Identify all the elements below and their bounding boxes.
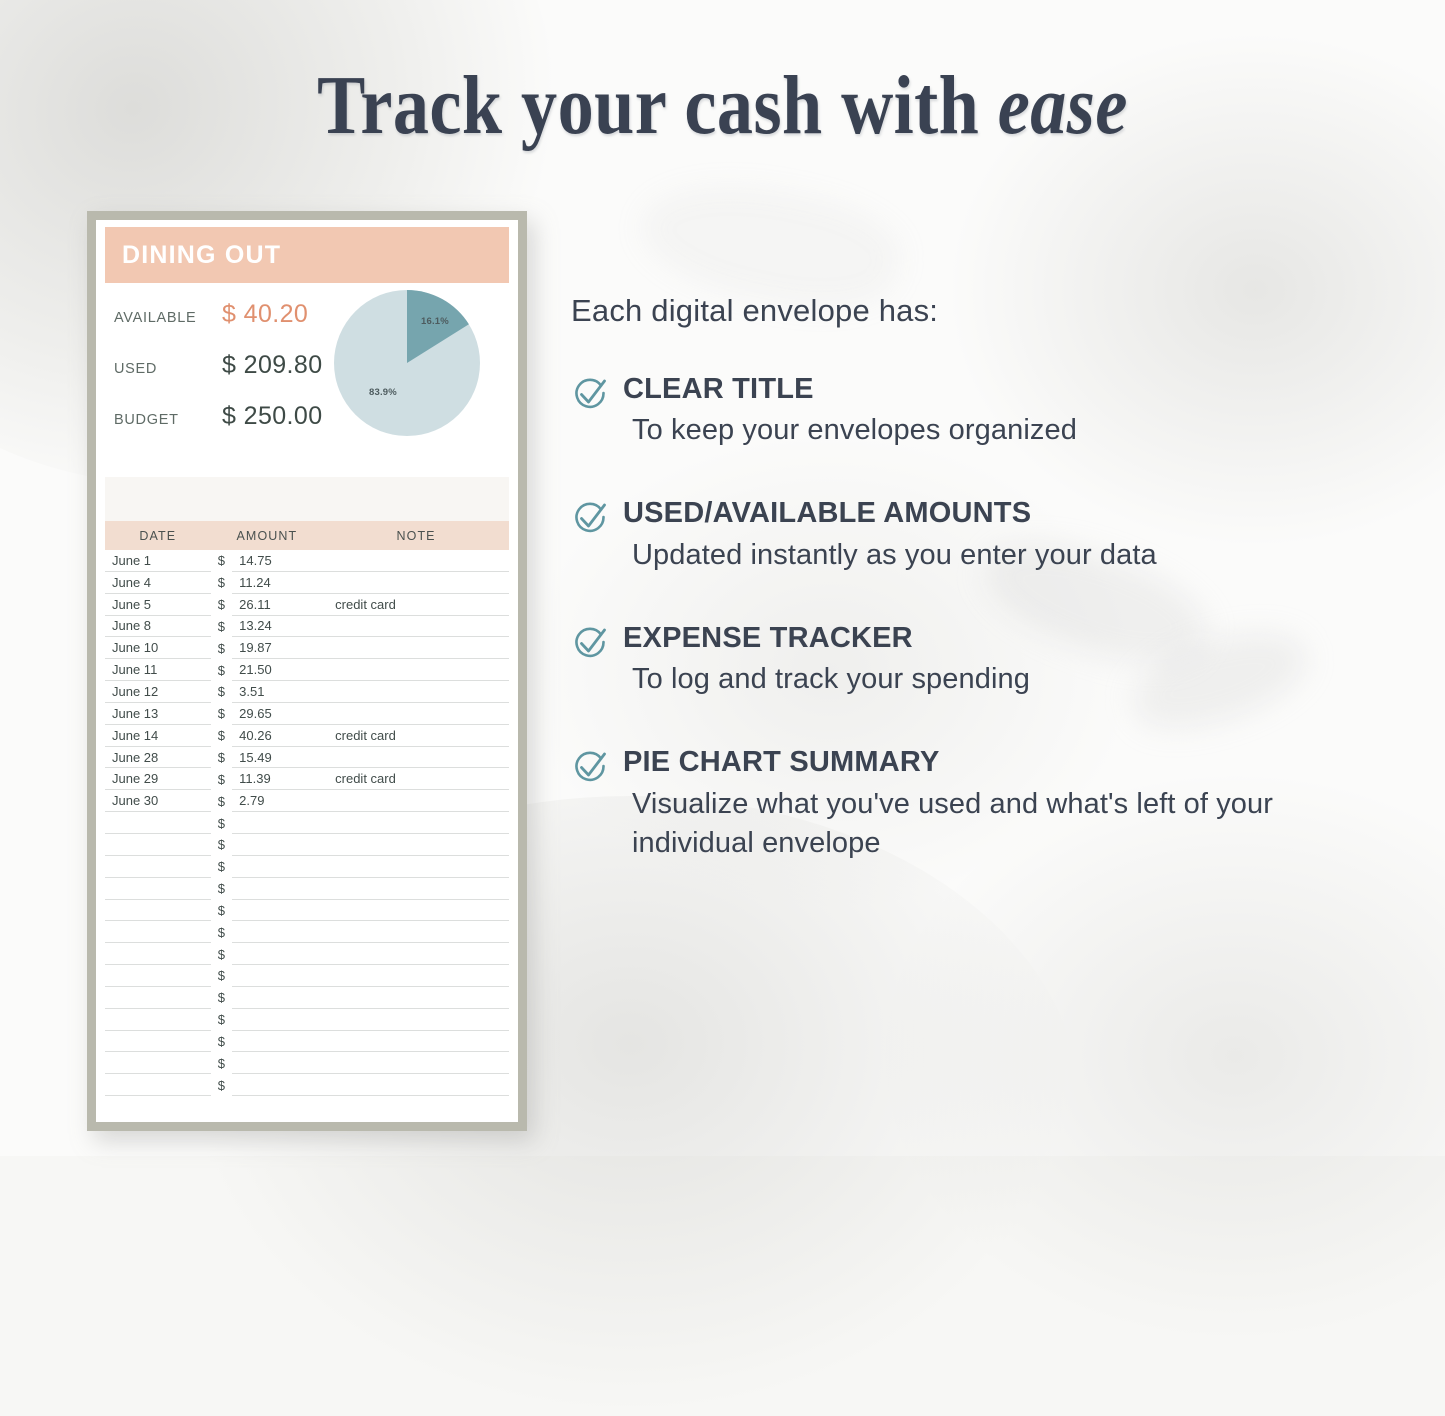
cell-amount[interactable] — [232, 1009, 323, 1031]
cell-currency-symbol: $ — [211, 1052, 232, 1074]
cell-date[interactable]: June 4 — [105, 572, 211, 594]
cell-note[interactable] — [323, 856, 509, 878]
envelope-summary: AVAILABLE $ 40.20 USED $ 209.80 BUDGET $… — [105, 283, 509, 477]
cell-currency-symbol: $ — [211, 921, 232, 943]
envelope-card: DINING OUT AVAILABLE $ 40.20 USED $ 209.… — [96, 220, 518, 1122]
summary-label-budget: BUDGET — [114, 412, 222, 428]
cell-note[interactable] — [323, 943, 509, 965]
summary-value-available: $ 40.20 — [222, 300, 308, 329]
summary-value-used: $ 209.80 — [222, 351, 323, 380]
summary-label-used: USED — [114, 361, 222, 377]
feature-title: EXPENSE TRACKER — [623, 622, 1391, 655]
cell-date[interactable]: June 5 — [105, 594, 211, 616]
cell-note[interactable] — [323, 550, 509, 572]
envelope-title: DINING OUT — [122, 241, 281, 270]
cell-date[interactable]: June 14 — [105, 725, 211, 747]
headline-main: Track your cash with — [317, 59, 998, 152]
cell-note[interactable] — [323, 1074, 509, 1096]
feature-title: PIE CHART SUMMARY — [623, 746, 1391, 779]
cell-amount[interactable] — [232, 900, 323, 922]
page-headline: Track your cash with ease — [101, 62, 1344, 150]
feature-item: EXPENSE TRACKERTo log and track your spe… — [571, 622, 1391, 699]
table-row[interactable]: June 30$2.79 — [105, 790, 509, 812]
feature-text: EXPENSE TRACKERTo log and track your spe… — [623, 622, 1391, 699]
table-row[interactable]: $ — [105, 900, 509, 922]
feature-item: PIE CHART SUMMARYVisualize what you've u… — [571, 746, 1391, 863]
cell-amount[interactable] — [232, 878, 323, 900]
cell-currency-symbol: $ — [211, 943, 232, 965]
check-circle-icon — [571, 749, 611, 792]
cell-note[interactable] — [323, 878, 509, 900]
cell-amount[interactable] — [232, 965, 323, 987]
cell-amount[interactable] — [232, 812, 323, 834]
cell-note[interactable] — [323, 1031, 509, 1053]
table-row[interactable]: $ — [105, 987, 509, 1009]
cell-amount[interactable]: 11.39 — [232, 768, 323, 790]
feature-item: USED/AVAILABLE AMOUNTSUpdated instantly … — [571, 497, 1391, 574]
cell-note[interactable] — [323, 921, 509, 943]
table-row[interactable]: June 1$14.75 — [105, 550, 509, 572]
cell-currency-symbol: $ — [211, 616, 232, 638]
column-header-amount: AMOUNT — [211, 529, 324, 543]
summary-table-divider — [105, 477, 509, 521]
cell-date[interactable]: June 28 — [105, 747, 211, 769]
cell-amount[interactable] — [232, 987, 323, 1009]
cell-date[interactable] — [105, 921, 211, 943]
table-row[interactable]: $ — [105, 1031, 509, 1053]
table-row[interactable]: $ — [105, 943, 509, 965]
cell-note[interactable]: credit card — [323, 725, 509, 747]
cell-note[interactable] — [323, 834, 509, 856]
cell-date[interactable] — [105, 856, 211, 878]
cell-amount[interactable] — [232, 943, 323, 965]
pie-chart-svg — [333, 289, 481, 437]
cell-date[interactable] — [105, 1052, 211, 1074]
feature-description: To log and track your spending — [632, 660, 1391, 699]
cell-amount[interactable]: 14.75 — [232, 550, 323, 572]
cell-date[interactable] — [105, 1009, 211, 1031]
cell-amount[interactable]: 15.49 — [232, 747, 323, 769]
cell-currency-symbol: $ — [211, 1031, 232, 1053]
pie-label-used: 83.9% — [369, 387, 397, 398]
cell-note[interactable] — [323, 747, 509, 769]
summary-label-available: AVAILABLE — [114, 310, 222, 326]
table-row[interactable]: $ — [105, 1052, 509, 1074]
cell-currency-symbol: $ — [211, 681, 232, 703]
cell-currency-symbol: $ — [211, 572, 232, 594]
cell-currency-symbol: $ — [211, 550, 232, 572]
cell-note[interactable] — [323, 812, 509, 834]
check-circle-icon — [571, 625, 611, 668]
check-circle-icon — [571, 500, 611, 543]
table-row[interactable]: $ — [105, 1074, 509, 1096]
cell-currency-symbol: $ — [211, 747, 232, 769]
feature-description: Updated instantly as you enter your data — [632, 536, 1391, 575]
cell-note[interactable] — [323, 1009, 509, 1031]
cell-amount[interactable] — [232, 1052, 323, 1074]
cell-date[interactable] — [105, 812, 211, 834]
cell-currency-symbol: $ — [211, 900, 232, 922]
cell-date[interactable] — [105, 943, 211, 965]
cell-date[interactable] — [105, 1031, 211, 1053]
cell-date[interactable] — [105, 834, 211, 856]
cell-amount[interactable]: 19.87 — [232, 637, 323, 659]
features-intro: Each digital envelope has: — [571, 293, 1391, 329]
cell-currency-symbol: $ — [211, 703, 232, 725]
table-row[interactable]: June 5$26.11credit card — [105, 594, 509, 616]
cell-date[interactable] — [105, 900, 211, 922]
cell-amount[interactable] — [232, 834, 323, 856]
cell-date[interactable]: June 12 — [105, 681, 211, 703]
table-row[interactable]: June 4$11.24 — [105, 572, 509, 594]
cell-amount[interactable]: 2.79 — [232, 790, 323, 812]
cell-currency-symbol: $ — [211, 637, 232, 659]
table-row[interactable]: June 28$15.49 — [105, 747, 509, 769]
feature-text: USED/AVAILABLE AMOUNTSUpdated instantly … — [623, 497, 1391, 574]
cell-currency-symbol: $ — [211, 1009, 232, 1031]
table-row[interactable]: June 11$21.50 — [105, 659, 509, 681]
table-row[interactable]: $ — [105, 965, 509, 987]
feature-description: Visualize what you've used and what's le… — [632, 785, 1391, 863]
cell-date[interactable] — [105, 987, 211, 1009]
cell-amount[interactable]: 11.24 — [232, 572, 323, 594]
cell-date[interactable]: June 10 — [105, 637, 211, 659]
cell-note[interactable] — [323, 965, 509, 987]
table-row[interactable]: $ — [105, 856, 509, 878]
column-header-note: NOTE — [323, 529, 509, 543]
cell-currency-symbol: $ — [211, 1074, 232, 1096]
cell-amount[interactable]: 26.11 — [232, 594, 323, 616]
cell-currency-symbol: $ — [211, 965, 232, 987]
feature-item: CLEAR TITLETo keep your envelopes organi… — [571, 373, 1391, 450]
table-row[interactable]: $ — [105, 812, 509, 834]
cell-note[interactable] — [323, 790, 509, 812]
cell-date[interactable]: June 30 — [105, 790, 211, 812]
column-header-date: DATE — [105, 529, 211, 543]
budget-pie-chart: 83.9% 16.1% — [333, 289, 481, 437]
cell-amount[interactable] — [232, 1031, 323, 1053]
feature-title: CLEAR TITLE — [623, 373, 1391, 406]
table-row[interactable]: $ — [105, 878, 509, 900]
cell-note[interactable]: credit card — [323, 594, 509, 616]
cell-date[interactable]: June 13 — [105, 703, 211, 725]
envelope-title-bar: DINING OUT — [105, 227, 509, 283]
feature-description: To keep your envelopes organized — [632, 411, 1391, 450]
cell-date[interactable] — [105, 878, 211, 900]
cell-amount[interactable]: 3.51 — [232, 681, 323, 703]
cell-date[interactable]: June 1 — [105, 550, 211, 572]
table-row[interactable]: $ — [105, 921, 509, 943]
cell-amount[interactable]: 40.26 — [232, 725, 323, 747]
feature-text: PIE CHART SUMMARYVisualize what you've u… — [623, 746, 1391, 863]
cell-currency-symbol: $ — [211, 659, 232, 681]
cell-date[interactable] — [105, 1074, 211, 1096]
cell-note[interactable] — [323, 987, 509, 1009]
cell-note[interactable] — [323, 1052, 509, 1074]
summary-value-budget: $ 250.00 — [222, 402, 323, 431]
cell-amount[interactable]: 13.24 — [232, 616, 323, 638]
cell-amount[interactable] — [232, 856, 323, 878]
cell-date[interactable] — [105, 965, 211, 987]
cell-amount[interactable] — [232, 1074, 323, 1096]
table-row[interactable]: $ — [105, 834, 509, 856]
table-row[interactable]: $ — [105, 1009, 509, 1031]
features-panel: Each digital envelope has: CLEAR TITLETo… — [571, 293, 1391, 910]
table-row[interactable]: June 13$29.65 — [105, 703, 509, 725]
pie-label-available: 16.1% — [421, 316, 449, 327]
cell-note[interactable] — [323, 900, 509, 922]
cell-note[interactable]: credit card — [323, 768, 509, 790]
table-row[interactable]: June 29$11.39credit card — [105, 768, 509, 790]
table-row[interactable]: June 14$40.26credit card — [105, 725, 509, 747]
cell-date[interactable]: June 11 — [105, 659, 211, 681]
envelope-card-frame: DINING OUT AVAILABLE $ 40.20 USED $ 209.… — [87, 211, 527, 1131]
table-row[interactable]: June 8$13.24 — [105, 616, 509, 638]
cell-currency-symbol: $ — [211, 594, 232, 616]
cell-note[interactable] — [323, 572, 509, 594]
cell-amount[interactable]: 21.50 — [232, 659, 323, 681]
expense-table-body: June 1$14.75June 4$11.24June 5$26.11cred… — [105, 550, 509, 1117]
cell-currency-symbol: $ — [211, 856, 232, 878]
feature-title: USED/AVAILABLE AMOUNTS — [623, 497, 1391, 530]
expense-table-header: DATE AMOUNT NOTE — [105, 521, 509, 550]
cell-note[interactable] — [323, 637, 509, 659]
features-list: CLEAR TITLETo keep your envelopes organi… — [571, 373, 1391, 863]
cell-note[interactable] — [323, 681, 509, 703]
cell-currency-symbol: $ — [211, 768, 232, 790]
cell-currency-symbol: $ — [211, 878, 232, 900]
feature-text: CLEAR TITLETo keep your envelopes organi… — [623, 373, 1391, 450]
cell-note[interactable] — [323, 703, 509, 725]
cell-date[interactable]: June 29 — [105, 768, 211, 790]
cell-note[interactable] — [323, 659, 509, 681]
cell-currency-symbol: $ — [211, 987, 232, 1009]
cell-date[interactable]: June 8 — [105, 616, 211, 638]
headline-emphasis: ease — [998, 59, 1128, 152]
table-row[interactable]: June 12$3.51 — [105, 681, 509, 703]
cell-amount[interactable]: 29.65 — [232, 703, 323, 725]
table-row[interactable]: June 10$19.87 — [105, 637, 509, 659]
cell-amount[interactable] — [232, 921, 323, 943]
cell-currency-symbol: $ — [211, 834, 232, 856]
cell-note[interactable] — [323, 616, 509, 638]
cell-currency-symbol: $ — [211, 790, 232, 812]
check-circle-icon — [571, 376, 611, 419]
cell-currency-symbol: $ — [211, 725, 232, 747]
cell-currency-symbol: $ — [211, 812, 232, 834]
